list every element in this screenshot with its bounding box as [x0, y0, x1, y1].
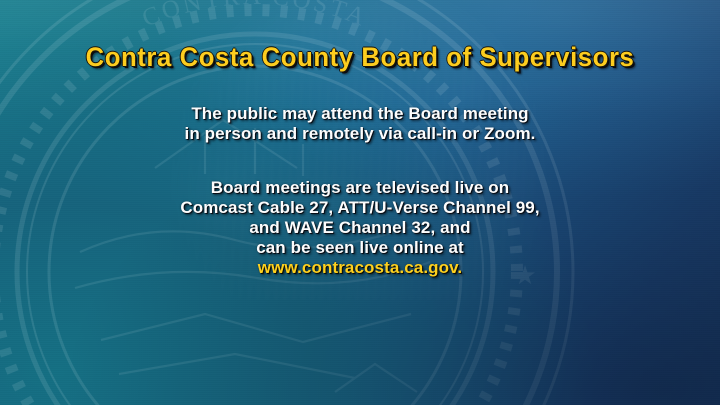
broadcast-line-2: Comcast Cable 27, ATT/U-Verse Channel 99…: [0, 198, 720, 218]
broadcast-line-3: and WAVE Channel 32, and: [0, 218, 720, 238]
broadcast-paragraph: Board meetings are televised live on Com…: [0, 178, 720, 278]
website-url[interactable]: www.contracosta.ca.gov.: [0, 258, 720, 278]
slide-content: Contra Costa County Board of Supervisors…: [0, 0, 720, 405]
attendance-paragraph: The public may attend the Board meeting …: [0, 104, 720, 144]
broadcast-line-4: can be seen live online at: [0, 238, 720, 258]
attendance-line-2: in person and remotely via call-in or Zo…: [0, 124, 720, 144]
attendance-line-1: The public may attend the Board meeting: [0, 104, 720, 124]
broadcast-line-1: Board meetings are televised live on: [0, 178, 720, 198]
broadcast-slide: CONTRA COSTA COUNTY CALIFORNIA ★ ★: [0, 0, 720, 405]
page-title: Contra Costa County Board of Supervisors: [11, 42, 709, 73]
